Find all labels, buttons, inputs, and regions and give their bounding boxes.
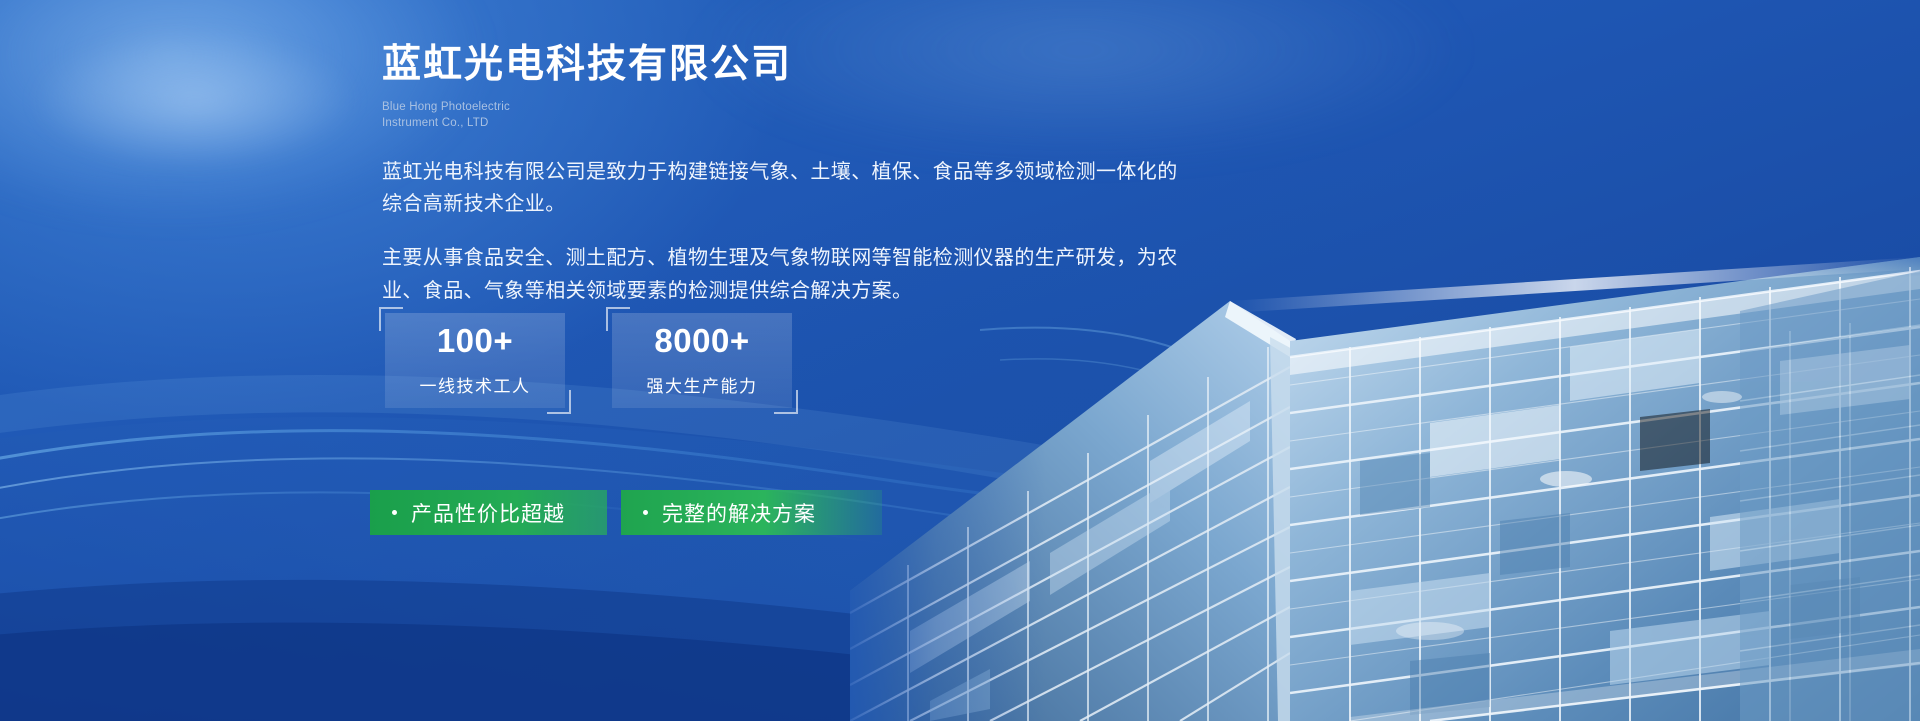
- stat-boxes: 100+ 一线技术工人 8000+ 强大生产能力: [385, 313, 792, 408]
- banner-content: 蓝虹光电科技有限公司 Blue Hong Photoelectric Instr…: [382, 0, 1382, 721]
- feature-tag-label: 完整的解决方案: [662, 498, 816, 528]
- stat-value: 100+: [437, 324, 513, 357]
- intro-paragraph-2: 主要从事食品安全、测土配方、植物生理及气象物联网等智能检测仪器的生产研发，为农业…: [382, 242, 1182, 307]
- company-subtitle-line-2: Instrument Co., LTD: [382, 116, 1382, 132]
- bullet-dot-icon: [643, 510, 648, 515]
- stat-value: 8000+: [654, 324, 749, 357]
- feature-tags: 产品性价比超越 完整的解决方案: [370, 490, 882, 535]
- company-subtitle-line-1: Blue Hong Photoelectric: [382, 100, 1382, 116]
- company-title: 蓝虹光电科技有限公司: [382, 0, 1382, 90]
- stat-box-workers: 100+ 一线技术工人: [385, 313, 565, 408]
- feature-tag-label: 产品性价比超越: [411, 498, 565, 528]
- bullet-dot-icon: [392, 510, 397, 515]
- stat-label: 强大生产能力: [647, 372, 758, 397]
- feature-tag-value: 产品性价比超越: [370, 490, 607, 535]
- intro-paragraph-1: 蓝虹光电科技有限公司是致力于构建链接气象、土壤、植保、食品等多领域检测一体化的综…: [382, 156, 1182, 221]
- company-subtitle-en: Blue Hong Photoelectric Instrument Co., …: [382, 100, 1382, 132]
- feature-tag-solution: 完整的解决方案: [621, 490, 882, 535]
- hero-banner: 蓝虹光电科技有限公司 Blue Hong Photoelectric Instr…: [0, 0, 1920, 721]
- stat-box-capacity: 8000+ 强大生产能力: [612, 313, 792, 408]
- stat-label: 一线技术工人: [420, 372, 531, 397]
- company-intro: 蓝虹光电科技有限公司是致力于构建链接气象、土壤、植保、食品等多领域检测一体化的综…: [382, 156, 1182, 308]
